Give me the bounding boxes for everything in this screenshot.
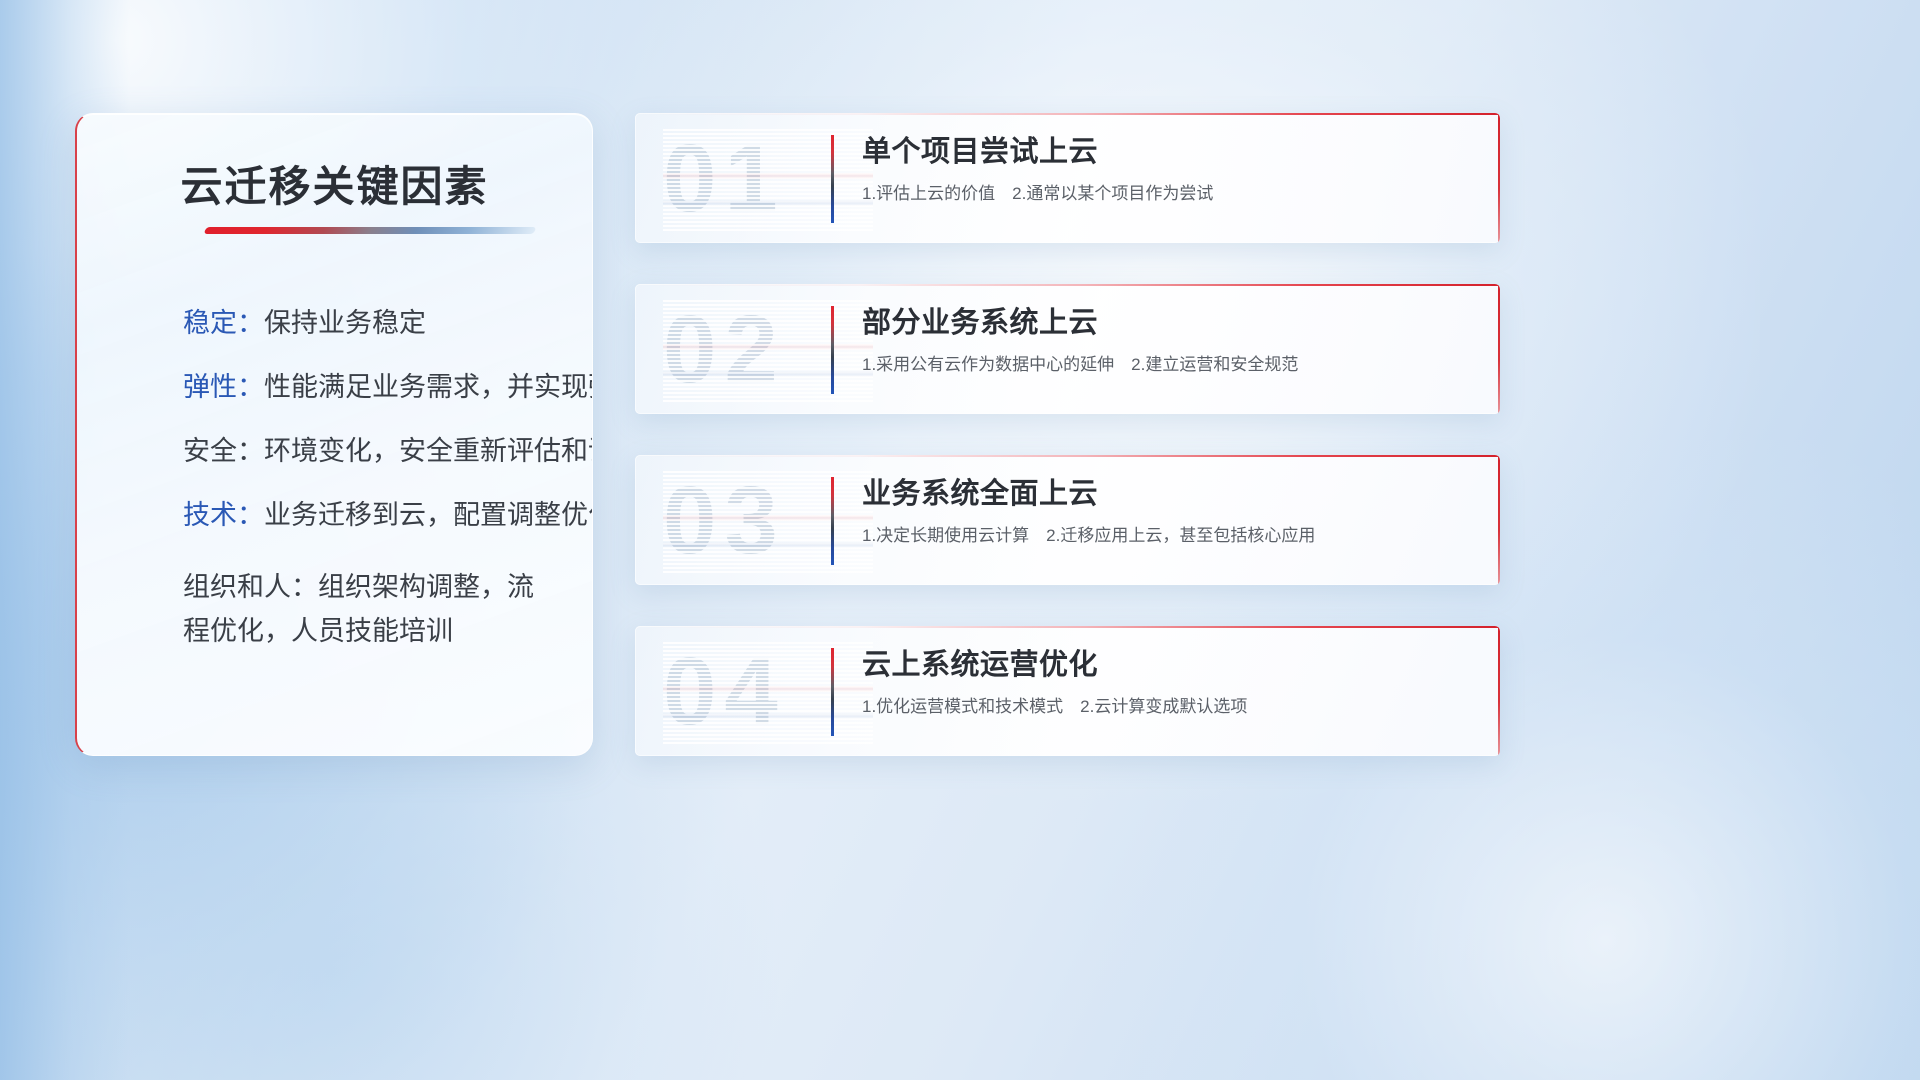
card-subtitle: 1.决定长期使用云计算 2.迁移应用上云，甚至包括核心应用 [862, 525, 1470, 547]
stage-number-ghost: 04 [663, 640, 873, 744]
card-accent-divider [831, 306, 834, 394]
stage-card[interactable]: 02部分业务系统上云1.采用公有云作为数据中心的延伸 2.建立运营和安全规范 [635, 284, 1500, 414]
factor-item: 弹性：性能满足业务需求，并实现弹性 [183, 374, 552, 401]
scanline-tint-overlay [663, 640, 873, 744]
page-title: 云迁移关键因素 [77, 153, 592, 214]
factor-value: 环境变化，安全重新评估和评审 [264, 436, 593, 466]
factor-item: 组织和人：组织架构调整，流程优化，人员技能培训 [183, 566, 552, 653]
factor-label: 技术： [183, 500, 264, 530]
stage-number-ghost: 01 [663, 127, 873, 231]
stage-card[interactable]: 03业务系统全面上云1.决定长期使用云计算 2.迁移应用上云，甚至包括核心应用 [635, 455, 1500, 585]
card-subtitle: 1.优化运营模式和技术模式 2.云计算变成默认选项 [862, 696, 1470, 718]
stage-card[interactable]: 01单个项目尝试上云1.评估上云的价值 2.通常以某个项目作为尝试 [635, 113, 1500, 243]
stage-number: 02 [663, 298, 873, 402]
factor-label: 稳定： [183, 308, 264, 338]
scanline-tint-overlay [663, 469, 873, 573]
card-title: 单个项目尝试上云 [862, 135, 1470, 169]
card-accent-divider [831, 648, 834, 736]
card-accent-divider [831, 477, 834, 565]
migration-stage-cards: 01单个项目尝试上云1.评估上云的价值 2.通常以某个项目作为尝试02部分业务系… [635, 113, 1500, 797]
card-accent-divider [831, 135, 834, 223]
slide-stage: 云迁移关键因素 稳定：保持业务稳定弹性：性能满足业务需求，并实现弹性安全：环境变… [0, 0, 1920, 1080]
factor-value: 性能满足业务需求，并实现弹性 [264, 372, 593, 402]
scanline-tint-overlay [663, 298, 873, 402]
factor-label: 安全： [183, 436, 264, 466]
card-title: 业务系统全面上云 [862, 477, 1470, 511]
stage-number-ghost: 03 [663, 469, 873, 573]
scanline-overlay-icon [663, 127, 873, 231]
card-text-block: 云上系统运营优化1.优化运营模式和技术模式 2.云计算变成默认选项 [862, 648, 1470, 718]
key-factors-panel: 云迁移关键因素 稳定：保持业务稳定弹性：性能满足业务需求，并实现弹性安全：环境变… [75, 113, 593, 756]
card-title: 云上系统运营优化 [862, 648, 1470, 682]
stage-number: 03 [663, 469, 873, 573]
scanline-tint-overlay [663, 127, 873, 231]
card-subtitle: 1.采用公有云作为数据中心的延伸 2.建立运营和安全规范 [862, 354, 1470, 376]
factor-value: 业务迁移到云，配置调整优化 [264, 500, 593, 530]
scanline-overlay-icon [663, 298, 873, 402]
title-underline-rule [204, 227, 537, 234]
card-subtitle: 1.评估上云的价值 2.通常以某个项目作为尝试 [862, 183, 1470, 205]
stage-number: 01 [663, 127, 873, 231]
card-text-block: 部分业务系统上云1.采用公有云作为数据中心的延伸 2.建立运营和安全规范 [862, 306, 1470, 376]
factor-item: 技术：业务迁移到云，配置调整优化 [183, 502, 552, 529]
factor-item: 安全：环境变化，安全重新评估和评审 [183, 438, 552, 465]
scanline-overlay-icon [663, 640, 873, 744]
factor-list: 稳定：保持业务稳定弹性：性能满足业务需求，并实现弹性安全：环境变化，安全重新评估… [183, 310, 552, 690]
factor-item: 稳定：保持业务稳定 [183, 310, 552, 337]
stage-card[interactable]: 04云上系统运营优化1.优化运营模式和技术模式 2.云计算变成默认选项 [635, 626, 1500, 756]
factor-label: 弹性： [183, 372, 264, 402]
scanline-overlay-icon [663, 469, 873, 573]
card-text-block: 业务系统全面上云1.决定长期使用云计算 2.迁移应用上云，甚至包括核心应用 [862, 477, 1470, 547]
factor-value: 保持业务稳定 [264, 308, 426, 338]
card-title: 部分业务系统上云 [862, 306, 1470, 340]
stage-number: 04 [663, 640, 873, 744]
factor-label: 组织和人： [183, 572, 318, 602]
card-text-block: 单个项目尝试上云1.评估上云的价值 2.通常以某个项目作为尝试 [862, 135, 1470, 205]
stage-number-ghost: 02 [663, 298, 873, 402]
